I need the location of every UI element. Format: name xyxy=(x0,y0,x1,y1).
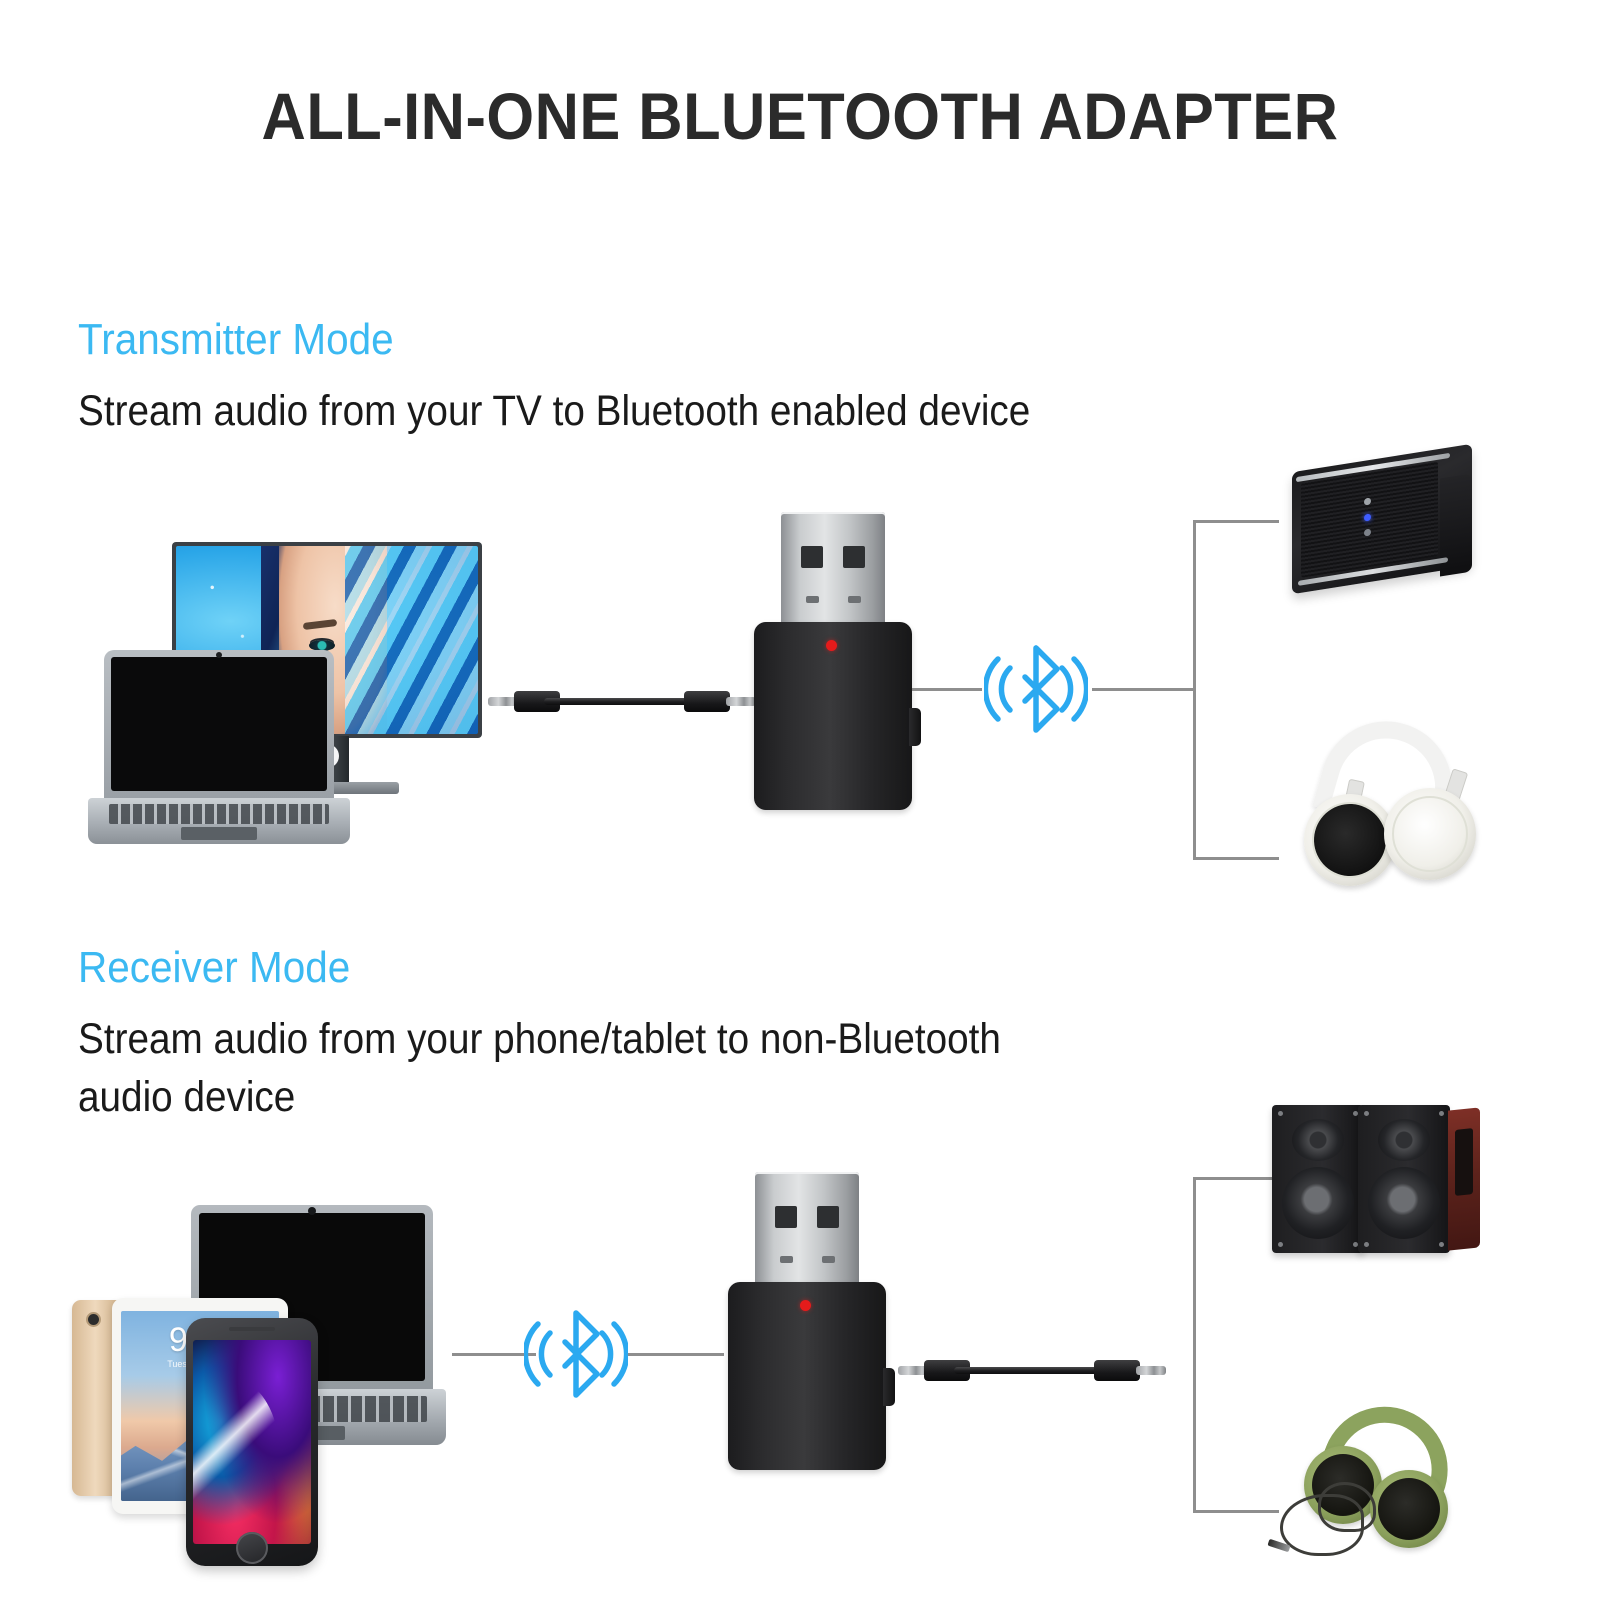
adapter-body xyxy=(754,622,912,810)
adapter-side-port xyxy=(883,1368,895,1406)
usb-notch xyxy=(848,596,861,603)
laptop-screen xyxy=(111,657,328,791)
speaker-screw xyxy=(1439,1111,1444,1116)
usb-connector xyxy=(781,512,885,634)
usb-connector xyxy=(755,1172,859,1294)
usb-notch xyxy=(806,596,819,603)
speaker-port-slots xyxy=(1455,1128,1473,1196)
bluetooth-icon xyxy=(984,640,1088,738)
speaker-woofer xyxy=(1368,1167,1440,1239)
bracket-spine-receiver xyxy=(1193,1177,1196,1513)
bracket-branch-headphones xyxy=(1193,857,1279,860)
laptop-trackpad xyxy=(181,827,257,840)
speaker-screw xyxy=(1364,1111,1369,1116)
bluetooth-icon-receiver xyxy=(524,1305,628,1403)
transmitter-mode-subtitle: Stream audio from your TV to Bluetooth e… xyxy=(78,382,1338,440)
adapter-body xyxy=(728,1282,886,1470)
usb-bluetooth-adapter-receiver xyxy=(728,1172,886,1472)
bookshelf-speaker xyxy=(1272,1105,1364,1253)
aux-plug-tip-right xyxy=(726,697,756,706)
speaker-tweeter xyxy=(1292,1119,1344,1161)
white-over-ear-headphones xyxy=(1300,722,1500,894)
aux-wire xyxy=(544,698,700,705)
speaker-screw xyxy=(1278,1242,1283,1247)
laptop-base xyxy=(88,798,350,844)
status-led-indicator xyxy=(826,640,837,651)
aux-plug-tip-right xyxy=(1136,1366,1166,1375)
usb-contact xyxy=(775,1206,797,1228)
laptop-webcam-icon xyxy=(308,1207,316,1215)
usb-contact xyxy=(801,546,823,568)
laptop xyxy=(88,650,350,846)
earcup-pad xyxy=(1309,799,1390,880)
tablet-camera-icon xyxy=(88,1314,99,1325)
laptop-keyboard xyxy=(109,804,329,824)
aux-cable-transmitter xyxy=(488,683,756,719)
receiver-mode-subtitle: Stream audio from your phone/tablet to n… xyxy=(78,1010,1356,1126)
phone xyxy=(186,1318,318,1566)
adapter-side-port xyxy=(909,708,921,746)
earcup-ring xyxy=(1392,796,1468,872)
link-line-bluetooth-to-bracket xyxy=(1092,688,1196,691)
receiver-mode-heading: Receiver Mode xyxy=(78,943,350,993)
speaker-woofer xyxy=(1282,1167,1354,1239)
phone-screen xyxy=(193,1340,311,1544)
speaker-screw xyxy=(1278,1111,1283,1116)
laptop-webcam-icon xyxy=(216,652,222,658)
link-line-adapter-to-bluetooth xyxy=(912,688,982,691)
green-on-ear-headphones xyxy=(1262,1408,1498,1588)
usb-contact xyxy=(843,546,865,568)
page-title: ALL-IN-ONE BLUETOOTH ADAPTER xyxy=(56,78,1544,154)
headphone-earcup-right xyxy=(1384,788,1476,880)
usb-notch xyxy=(780,1256,793,1263)
phone-wallpaper-swirl xyxy=(193,1366,297,1539)
transmitter-mode-heading: Transmitter Mode xyxy=(78,315,394,365)
portable-bluetooth-speaker xyxy=(1292,458,1472,580)
speaker-wood-cabinet xyxy=(1448,1107,1480,1250)
speaker-screw xyxy=(1364,1242,1369,1247)
laptop-lid xyxy=(104,650,335,800)
aux-wire xyxy=(954,1367,1110,1374)
link-line-bluetooth-to-adapter xyxy=(628,1353,724,1356)
aux-cable-receiver xyxy=(898,1352,1166,1388)
bracket-branch-speaker xyxy=(1193,520,1279,523)
usb-bluetooth-adapter-transmitter xyxy=(754,512,912,812)
bracket-branch-speakers xyxy=(1193,1177,1279,1180)
usb-contact xyxy=(817,1206,839,1228)
status-led-indicator xyxy=(800,1300,811,1311)
screen-hair-swirl xyxy=(345,546,478,734)
headphone-cord xyxy=(1318,1482,1376,1532)
bookshelf-speaker-pair xyxy=(1272,1105,1487,1255)
speaker-tweeter xyxy=(1378,1119,1430,1161)
bracket-spine-transmitter xyxy=(1193,520,1196,860)
aux-plug-barrel-right xyxy=(1094,1360,1140,1381)
phone-earpiece xyxy=(229,1327,275,1331)
headphone-earcup-right xyxy=(1370,1470,1448,1548)
aux-plug-barrel-right xyxy=(684,691,730,712)
usb-notch xyxy=(822,1256,835,1263)
bookshelf-speaker xyxy=(1358,1105,1450,1253)
infographic-page: ALL-IN-ONE BLUETOOTH ADAPTER Transmitter… xyxy=(0,0,1600,1600)
earcup-pad xyxy=(1378,1478,1440,1540)
speaker-screw xyxy=(1439,1242,1444,1247)
phone-home-button[interactable] xyxy=(236,1532,268,1564)
